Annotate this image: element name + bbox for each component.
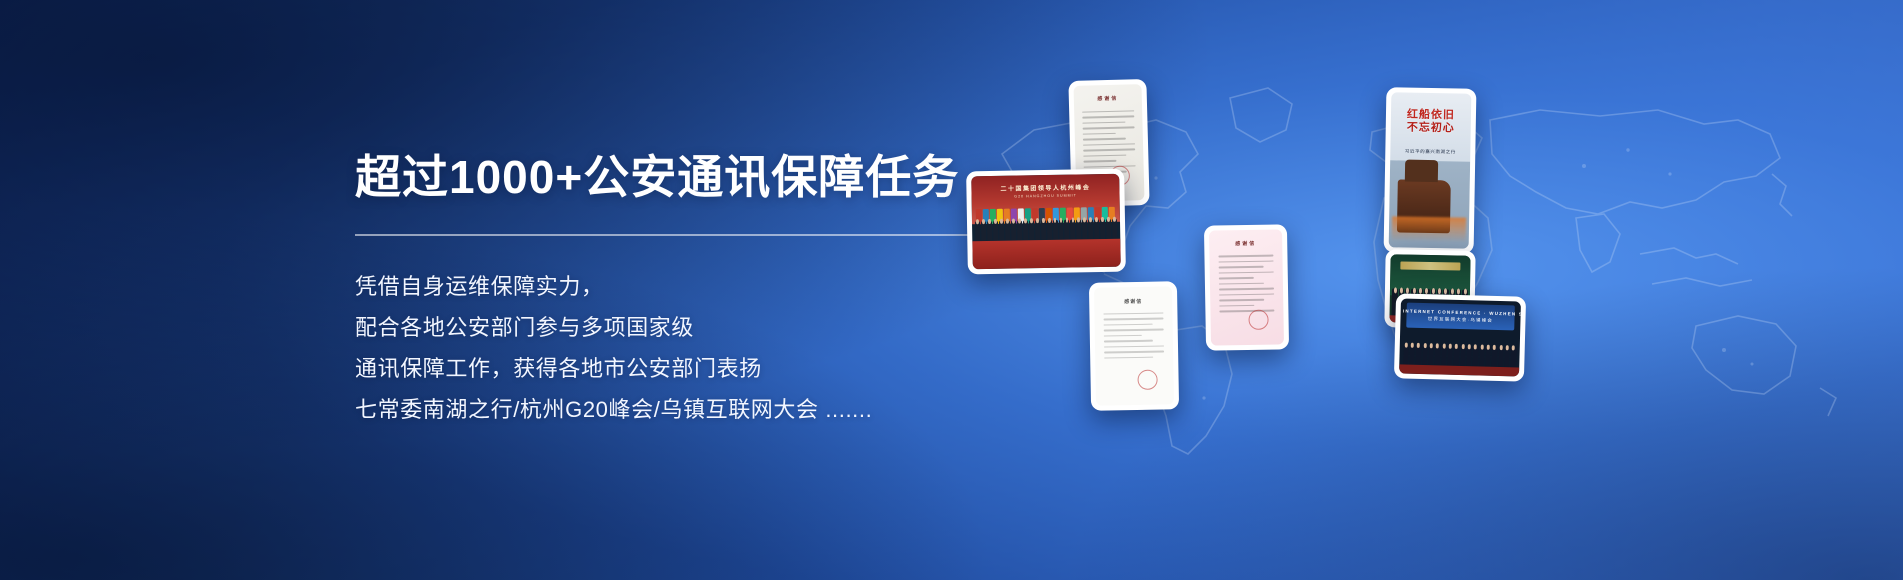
poster-line-2: 不忘初心	[1407, 122, 1455, 136]
g20-leaders-row	[975, 218, 1117, 241]
doc-lines	[1218, 255, 1275, 316]
banner-body: 凭借自身运维保障实力， 配合各地公安部门参与多项国家级 通讯保障工作，获得各地市…	[355, 266, 1115, 430]
credential-card-cluster: 感谢信 二十国集团领导人杭州峰会 G20 HANGZHOU SUMMIT	[1030, 50, 1630, 470]
doc-lines	[1082, 110, 1135, 177]
red-seal-icon	[1249, 310, 1269, 330]
certificate-top-title: 感谢信	[1074, 95, 1142, 104]
g20-subtitle: G20 HANGZHOU SUMMIT	[1014, 194, 1077, 199]
body-line-4: 七常委南湖之行/杭州G20峰会/乌镇互联网大会 .......	[355, 389, 1115, 430]
g20-title: 二十国集团领导人杭州峰会	[1000, 183, 1090, 194]
card-certificate-pink: 感谢信	[1204, 224, 1289, 350]
g20-banner-text: 二十国集团领导人杭州峰会 G20 HANGZHOU SUMMIT	[980, 180, 1111, 201]
promo-banner: 超过1000+公安通讯保障任务 凭借自身运维保障实力， 配合各地公安部门参与多项…	[0, 0, 1903, 580]
doc-lines	[1104, 312, 1164, 363]
poster-calligraphy: 红船依旧 不忘初心	[1397, 99, 1465, 147]
card-g20-summit: 二十国集团领导人杭州峰会 G20 HANGZHOU SUMMIT	[966, 169, 1126, 275]
red-seal-icon	[1138, 369, 1158, 389]
certificate-pink-title: 感谢信	[1209, 240, 1282, 248]
letter-white-title: 感谢信	[1094, 297, 1172, 305]
card-letter-white: 感谢信	[1089, 281, 1179, 411]
body-line-2: 配合各地公安部门参与多项国家级	[355, 307, 1115, 348]
headline-divider	[355, 234, 1035, 236]
conference-screen: WORLD INTERNET CONFERENCE · WUZHEN SUMMI…	[1406, 302, 1515, 330]
wic-title: WORLD INTERNET CONFERENCE · WUZHEN SUMMI…	[1399, 308, 1521, 317]
card-hongchuan-poster: 红船依旧 不忘初心 习近平的嘉兴南湖之行	[1384, 87, 1477, 254]
wic-subtitle: 世界互联网大会·乌镇峰会	[1428, 316, 1494, 324]
poster-caption: 习近平的嘉兴南湖之行	[1390, 148, 1470, 155]
card-world-internet-conference: WORLD INTERNET CONFERENCE · WUZHEN SUMMI…	[1394, 293, 1526, 381]
body-line-3: 通讯保障工作，获得各地市公安部门表扬	[355, 348, 1115, 389]
